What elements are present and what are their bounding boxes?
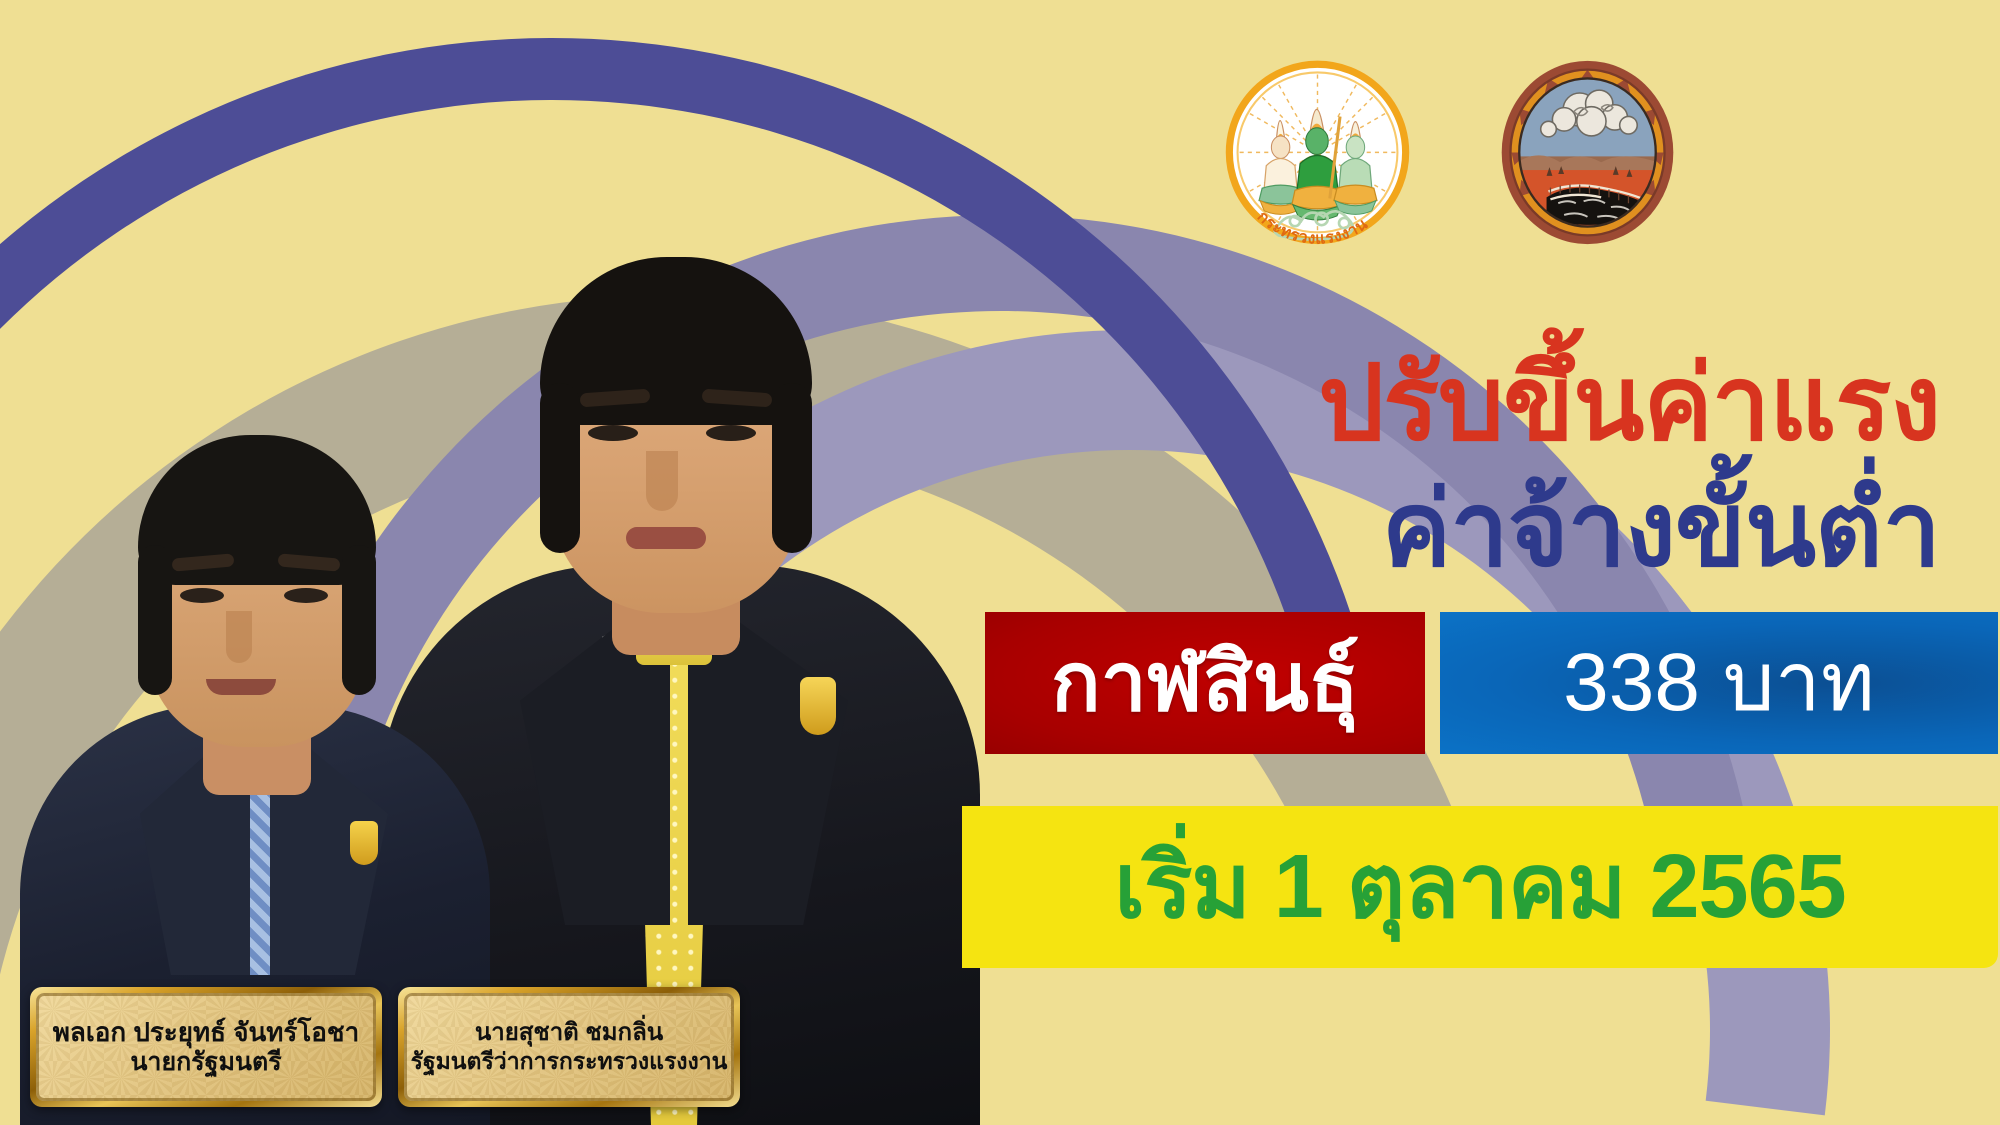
kalasin-province-seal-icon bbox=[1490, 55, 1685, 250]
nameplate-inner: พลเอก ประยุทธ์ จันทร์โอชา นายกรัฐมนตรี bbox=[36, 993, 376, 1101]
minister-nose bbox=[646, 451, 678, 511]
nameplate-prime-minister: พลเอก ประยุทธ์ จันทร์โอชา นายกรัฐมนตรี bbox=[30, 987, 382, 1107]
headline-line-2: ค่าจ้างขั้นต่ำ bbox=[1382, 478, 1940, 582]
nameplate-labour-minister: นายสุชาติ ชมกลิ่น รัฐมนตรีว่าการกระทรวงแ… bbox=[398, 987, 740, 1107]
nameplate-title: นายกรัฐมนตรี bbox=[130, 1048, 281, 1078]
minister-eye-left bbox=[588, 425, 638, 441]
pm-hair-side-left bbox=[138, 545, 172, 695]
effective-date-label: เริ่ม 1 ตุลาคม 2565 bbox=[1114, 842, 1845, 932]
minister-hair-side-right bbox=[772, 383, 812, 553]
minister-hair-side-left bbox=[540, 383, 580, 553]
minister-lapel-pin bbox=[800, 677, 836, 735]
nameplate-name: นายสุชาติ ชมกลิ่น bbox=[475, 1019, 663, 1047]
pm-mouth bbox=[206, 679, 276, 695]
wage-amount-badge: 338 บาท bbox=[1440, 612, 1998, 754]
nameplate-inner: นายสุชาติ ชมกลิ่น รัฐมนตรีว่าการกระทรวงแ… bbox=[404, 993, 734, 1101]
nameplate-title: รัฐมนตรีว่าการกระทรวงแรงงาน bbox=[411, 1048, 728, 1075]
pm-eye-left bbox=[180, 588, 224, 603]
pm-eye-right bbox=[284, 588, 328, 603]
minister-eye-right bbox=[706, 425, 756, 441]
officials-photo bbox=[0, 115, 980, 1125]
ministry-of-labour-emblem-icon: กระทรวงแรงงาน bbox=[1215, 55, 1420, 260]
headline-line-1: ปรับขึ้นค่าแรง bbox=[1318, 352, 1940, 456]
pm-lapel-pin bbox=[350, 821, 378, 865]
effective-date-badge: เริ่ม 1 ตุลาคม 2565 bbox=[962, 806, 1998, 968]
province-badge: กาฬสินธุ์ bbox=[985, 612, 1425, 754]
province-label: กาฬสินธุ์ bbox=[1051, 642, 1359, 724]
pm-nose bbox=[226, 611, 252, 663]
nameplate-name: พลเอก ประยุทธ์ จันทร์โอชา bbox=[53, 1017, 359, 1048]
minister-mouth bbox=[626, 527, 706, 549]
wage-amount-label: 338 บาท bbox=[1563, 642, 1875, 724]
poster-canvas: กระทรวงแรงงาน bbox=[0, 0, 2000, 1125]
pm-hair-side-right bbox=[342, 545, 376, 695]
